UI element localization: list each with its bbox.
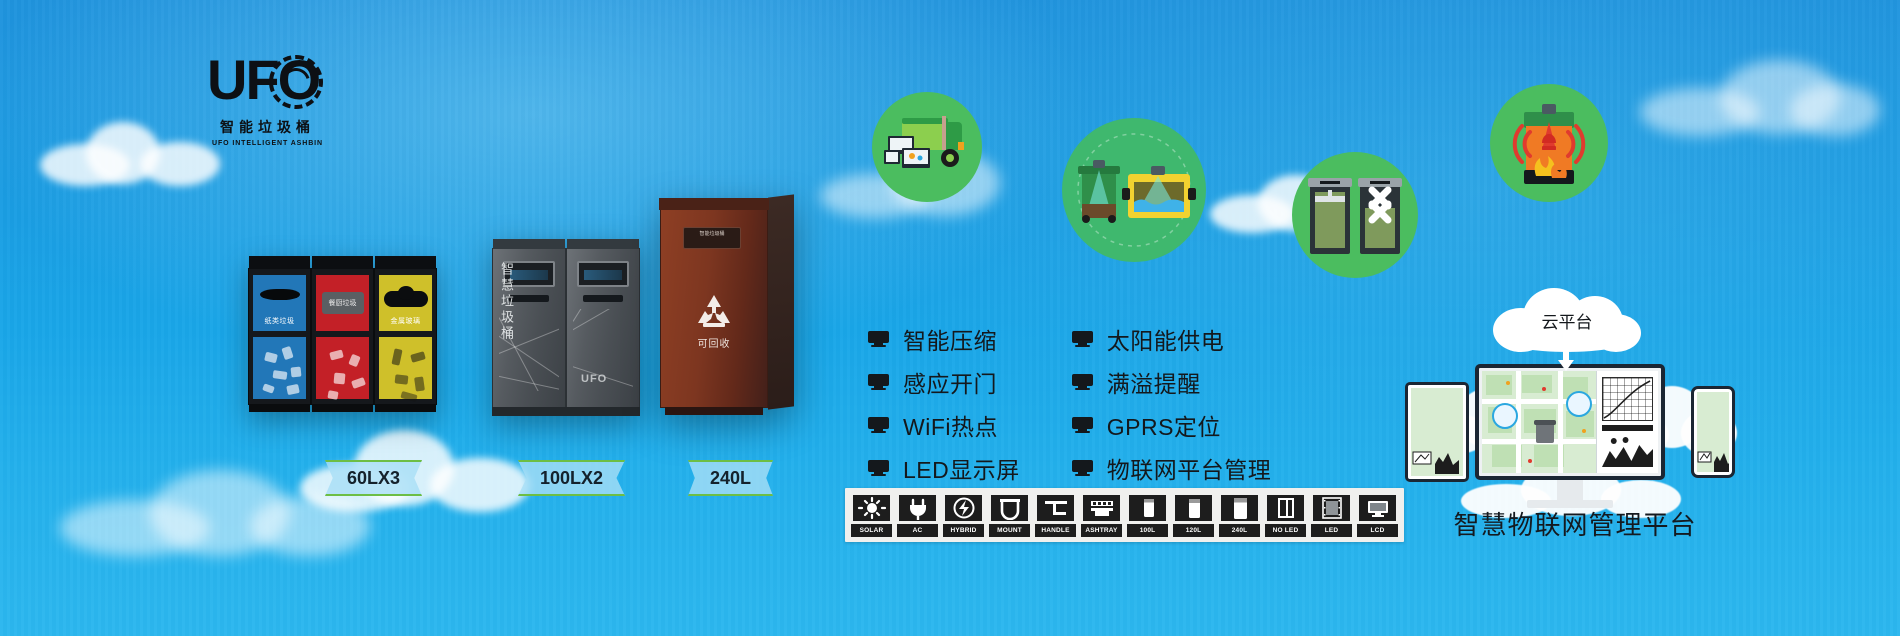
bin-compartment-label: 纸类垃圾: [253, 316, 306, 326]
bin-base: [566, 407, 640, 416]
feature-item: 感应开门: [868, 365, 1020, 399]
sun-icon: [851, 493, 892, 523]
capacity-label-text: 60LX3: [347, 468, 400, 489]
spec-item-mount: MOUNT: [989, 493, 1030, 537]
spec-label: HYBRID: [943, 524, 984, 537]
lightning-icon: [943, 493, 984, 523]
bin-side-panel: [768, 194, 794, 409]
spec-label: 100L: [1127, 524, 1168, 537]
bin-base: [492, 407, 566, 416]
feature-list: 智能压缩 感应开门 WiFi热点 LED显示屏 太阳能供电 满溢提醒: [868, 322, 1271, 485]
lcd-icon: [1357, 493, 1398, 523]
feature-label: LED显示屏: [903, 451, 1020, 485]
bin-slot-opening: [322, 292, 364, 314]
monitor-icon: [868, 460, 889, 476]
feature-label: 太阳能供电: [1107, 322, 1225, 356]
dashboard-map: [1482, 371, 1596, 473]
bin-display-screen: [577, 261, 629, 287]
bin-graphic-panel: [379, 337, 432, 399]
spec-item-hybrid: HYBRID: [943, 493, 984, 537]
product-brown-recycling-bin: 智能垃圾桶 可回收: [660, 208, 768, 408]
feature-label: GPRS定位: [1107, 408, 1221, 442]
spec-item-ashtray: ASHTRAY: [1081, 493, 1122, 537]
chart-progress-bar: [1602, 425, 1653, 431]
bin-compartment-kitchen: [311, 268, 374, 405]
feature-item: 智能压缩: [868, 322, 1020, 356]
bin-cap: [312, 256, 373, 269]
feature-label: 物联网平台管理: [1107, 451, 1272, 485]
monitor-icon: [1072, 374, 1093, 390]
data-flow-arrow-icon: [1557, 346, 1575, 372]
led-icon: [1311, 493, 1352, 523]
bin-graphic-panel: [316, 337, 369, 399]
cloud-decoration: [1640, 60, 1880, 140]
bin-display-panel: 智能垃圾桶: [683, 227, 741, 249]
bin-slot-opening: [583, 295, 623, 302]
monitor-icon: [1072, 460, 1093, 476]
chart-grid: [1602, 377, 1653, 421]
feature-label: 满溢提醒: [1107, 365, 1201, 399]
capacity-label-text: 100LX2: [540, 468, 603, 489]
bin-face-panel: [316, 275, 369, 331]
bin-cap: [249, 256, 310, 269]
spec-item-handle: HANDLE: [1035, 493, 1076, 537]
phone-map-view: [1697, 392, 1729, 472]
feature-label: WiFi热点: [903, 408, 998, 442]
tablet-map-view: [1411, 388, 1463, 476]
spec-label: ASHTRAY: [1081, 524, 1122, 537]
spec-label: AC: [897, 524, 938, 537]
capacity-label-60lx3: 60LX3: [325, 460, 422, 496]
fleet-monitoring-circle: [872, 92, 982, 202]
spec-item-240l: 240L: [1219, 493, 1260, 537]
spec-label: LCD: [1357, 524, 1398, 537]
bin-cap: [375, 256, 436, 269]
monitor-bezel: [1475, 364, 1665, 480]
no-led-icon: [1265, 493, 1306, 523]
fire-alarm-icon: [1490, 84, 1608, 202]
bin-front-text: 可回收: [661, 335, 767, 350]
bin-legs: [375, 404, 436, 412]
cloud-platform-badge: 云平台: [1493, 286, 1641, 352]
bin-compartment-metal-glass: 金属玻璃: [374, 268, 437, 405]
bin-slot-opening: [384, 291, 428, 307]
bin-cap: [659, 198, 769, 210]
banner-canvas: UFO 智能垃圾桶 UFO INTELLIGENT ASHBIN 纸类垃圾: [0, 0, 1900, 636]
bin-face-panel: 金属玻璃: [379, 275, 432, 331]
capacity-label-text: 240L: [710, 468, 751, 489]
bin-body: 智能垃圾桶 可回收: [660, 208, 768, 408]
ashtray-icon: [1081, 493, 1122, 523]
monitor-icon: [868, 417, 889, 433]
spec-label: NO LED: [1265, 524, 1306, 537]
feature-item: LED显示屏: [868, 451, 1020, 485]
spec-item-120l: 120L: [1173, 493, 1214, 537]
bin-120l-icon: [1173, 493, 1214, 523]
bin-panel-text: 智能垃圾桶: [684, 231, 740, 238]
dashboard-chart-panel: [1596, 371, 1658, 473]
spec-item-no-led: NO LED: [1265, 493, 1306, 537]
smartphone-device: [1691, 386, 1735, 478]
feature-item: 太阳能供电: [1072, 322, 1272, 356]
spec-item-lcd: LCD: [1357, 493, 1398, 537]
fill-level-sensor-icon: [1062, 118, 1206, 262]
monitor-icon: [1072, 331, 1093, 347]
bin-100l-icon: [1127, 493, 1168, 523]
map-callout-bubble: [1492, 403, 1518, 429]
cloud-platform-label: 云平台: [1493, 308, 1641, 333]
smart-bin-right-half: UFO: [566, 248, 640, 408]
recycle-symbol-icon: [694, 293, 734, 331]
iot-platform-illustration: 云平台: [1405, 286, 1735, 526]
spec-label: SOLAR: [851, 524, 892, 537]
garbage-truck-icon: [872, 92, 982, 202]
monitor-neck: [1557, 480, 1583, 500]
capacity-label-240l: 240L: [688, 460, 773, 496]
bin-graphic-items: [320, 341, 365, 395]
monitor-icon: [868, 374, 889, 390]
wall-mount-icon: [989, 493, 1030, 523]
bin-graphic-panel: [253, 337, 306, 399]
bin-cap: [493, 239, 565, 249]
map-callout-bubble: [1566, 391, 1592, 417]
bin-compaction-icon: [1292, 152, 1418, 278]
spec-label: LED: [1311, 524, 1352, 537]
product-three-compartment-bin: 纸类垃圾: [248, 268, 437, 405]
feature-label: 智能压缩: [903, 322, 997, 356]
bin-graphic-items: [383, 341, 428, 395]
spec-icon-strip: SOLAR AC HYBRID: [845, 488, 1404, 542]
desktop-monitor-device: [1475, 364, 1665, 508]
product-photo-group: 纸类垃圾: [0, 0, 800, 520]
feature-item: WiFi热点: [868, 408, 1020, 442]
spec-item-solar: SOLAR: [851, 493, 892, 537]
compaction-circle: [1292, 152, 1418, 278]
spec-item-100l: 100L: [1127, 493, 1168, 537]
feature-item: GPRS定位: [1072, 408, 1272, 442]
bin-face-panel: 纸类垃圾: [253, 275, 306, 331]
chart-area-sparkline: [1602, 435, 1653, 467]
capacity-label-100lx2: 100LX2: [518, 460, 625, 496]
iot-platform-title: 智慧物联网管理平台: [1415, 505, 1735, 542]
bin-compartment-paper: 纸类垃圾: [248, 268, 311, 405]
spec-item-ac: AC: [897, 493, 938, 537]
bin-slot-opening: [260, 289, 300, 300]
plug-icon: [897, 493, 938, 523]
spec-label: 120L: [1173, 524, 1214, 537]
bin-legs: [249, 404, 310, 412]
spec-label: 240L: [1219, 524, 1260, 537]
fire-alarm-circle: [1490, 84, 1608, 202]
tablet-device: [1405, 382, 1469, 482]
feature-item: 满溢提醒: [1072, 365, 1272, 399]
fill-level-circle: [1062, 118, 1206, 262]
feature-label: 感应开门: [903, 365, 997, 399]
monitor-screen: [1482, 371, 1658, 473]
handle-icon: [1035, 493, 1076, 523]
bin-brand-mark: UFO: [581, 373, 607, 385]
bin-cap: [567, 239, 639, 249]
spec-label: HANDLE: [1035, 524, 1076, 537]
bin-graphic-items: [257, 341, 302, 395]
feature-column-right: 太阳能供电 满溢提醒 GPRS定位 物联网平台管理: [1072, 322, 1272, 485]
spec-label: MOUNT: [989, 524, 1030, 537]
bin-240l-icon: [1219, 493, 1260, 523]
feature-item: 物联网平台管理: [1072, 451, 1272, 485]
monitor-icon: [1072, 417, 1093, 433]
feature-column-left: 智能压缩 感应开门 WiFi热点 LED显示屏: [868, 322, 1020, 485]
product-twin-smart-bin: UFO 智慧垃圾桶: [492, 248, 640, 408]
bin-legs: [312, 404, 373, 412]
bin-base: [665, 407, 763, 415]
bin-compartment-label: 金属玻璃: [379, 316, 432, 326]
bin-vertical-label: 智慧垃圾桶: [446, 262, 516, 342]
spec-item-led: LED: [1311, 493, 1352, 537]
monitor-icon: [868, 331, 889, 347]
